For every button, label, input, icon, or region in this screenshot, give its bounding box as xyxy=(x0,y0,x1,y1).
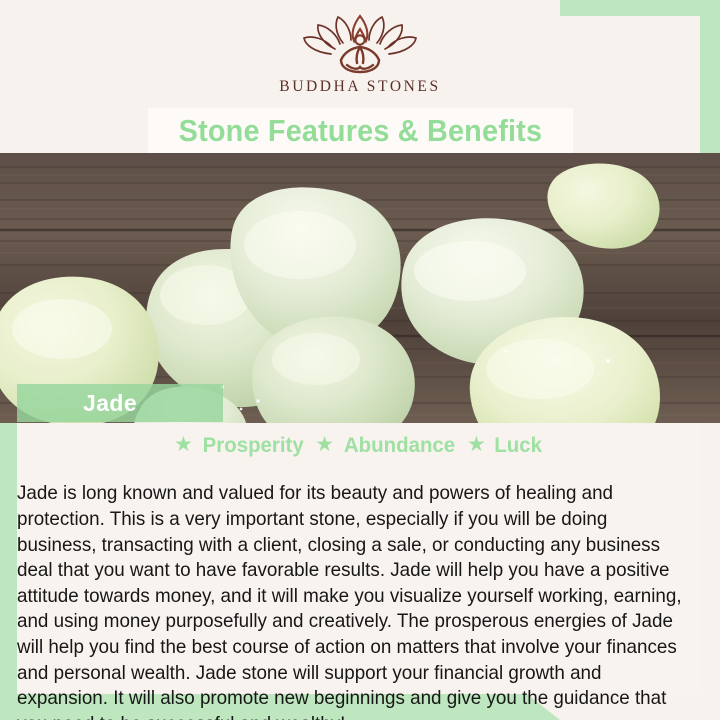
lotus-meditation-figure-icon xyxy=(301,14,419,76)
keyword-list: ★ Prosperity ★ Abundance ★ Luck xyxy=(17,430,700,460)
keyword-label: Abundance xyxy=(344,433,455,458)
brand-name: BUDDHA STONES xyxy=(279,78,440,96)
stone-name-label: Jade xyxy=(83,390,137,417)
stone-description: Jade is long known and valued for its be… xyxy=(17,481,682,720)
stone-photo xyxy=(0,153,720,423)
keyword-label: Prosperity xyxy=(202,433,303,458)
keyword-item: ★ Prosperity xyxy=(174,433,306,458)
stone-name-bar: Jade xyxy=(17,384,223,422)
keyword-item: ★ Abundance xyxy=(315,433,458,458)
title-banner: Stone Features & Benefits xyxy=(148,108,573,153)
star-icon: ★ xyxy=(174,434,193,455)
brand-header: BUDDHA STONES xyxy=(0,0,720,105)
keyword-label: Luck xyxy=(494,433,542,458)
keyword-item: ★ Luck xyxy=(467,433,543,458)
star-icon: ★ xyxy=(315,434,334,455)
page-title: Stone Features & Benefits xyxy=(179,113,543,149)
stone-info-poster: BUDDHA STONES Stone Features & Benefits xyxy=(0,0,720,720)
star-icon: ★ xyxy=(467,434,486,455)
